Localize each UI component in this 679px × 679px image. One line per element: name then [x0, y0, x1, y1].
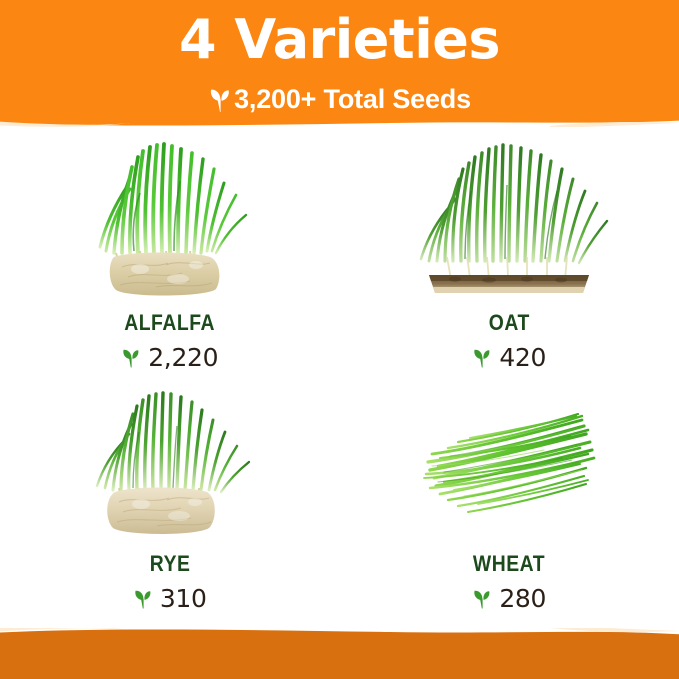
footer-brush-edge-icon [0, 628, 679, 639]
alfalfa-sprouts-photo [0, 127, 340, 302]
variety-seed-count: 420 [472, 343, 546, 372]
variety-card-alfalfa[interactable]: ALFALFA 2,220 [0, 127, 340, 378]
seed-count-value: 280 [499, 584, 546, 613]
header-banner: 4 Varieties 3,200+ Total Seeds [0, 0, 679, 127]
sprout-icon [472, 588, 492, 609]
sprout-icon [133, 588, 153, 609]
seed-count-value: 420 [499, 343, 546, 372]
variety-card-oat[interactable]: OAT 420 [340, 127, 679, 378]
sprout-icon [208, 87, 232, 113]
oat-grass-photo [340, 127, 679, 302]
variety-seed-count: 310 [133, 584, 207, 613]
variety-seed-count: 2,220 [121, 343, 218, 372]
variety-seed-count: 280 [472, 584, 546, 613]
variety-card-rye[interactable]: RYE 310 [0, 378, 340, 629]
rye-grass-photo [0, 378, 340, 543]
varieties-grid: ALFALFA 2,220 [0, 127, 679, 628]
sprout-icon [121, 347, 141, 368]
footer-banner [0, 628, 679, 679]
total-seeds-line: 3,200+ Total Seeds [0, 84, 679, 115]
total-seeds-text: 3,200+ Total Seeds [234, 84, 471, 115]
variety-card-wheat[interactable]: WHEAT 280 [340, 378, 679, 629]
variety-name: OAT [489, 310, 530, 336]
variety-name: WHEAT [473, 551, 545, 577]
variety-name: RYE [149, 551, 190, 577]
variety-name: ALFALFA [124, 310, 215, 336]
seed-count-value: 2,220 [148, 343, 218, 372]
wheatgrass-blades-photo [340, 378, 679, 543]
sprout-icon [472, 347, 492, 368]
banner-brush-edge-icon [0, 116, 679, 127]
page-title: 4 Varieties [0, 13, 679, 67]
seed-count-value: 310 [160, 584, 207, 613]
